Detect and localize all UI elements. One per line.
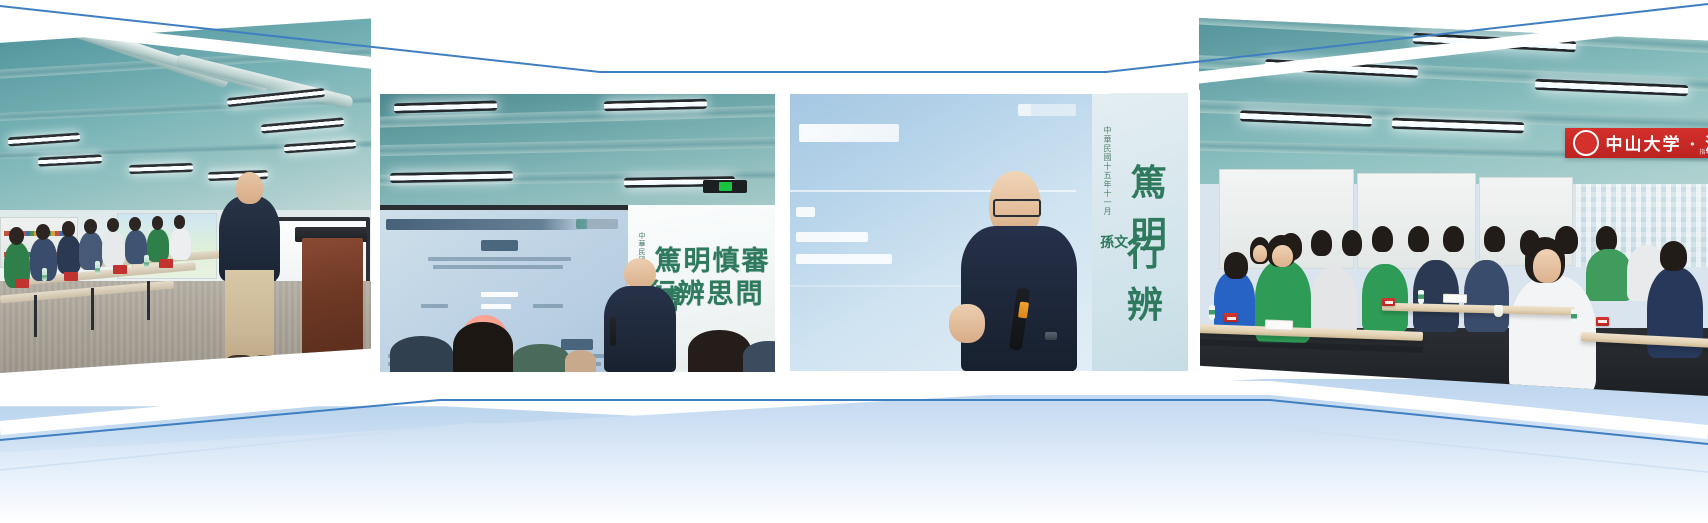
instructor-body [219,196,279,281]
audience-head [390,336,454,372]
attendee-head [1443,226,1463,252]
slide-keyword-right [561,339,594,350]
bottom-plate-right [0,363,1708,523]
banner-main-text: 中山大学 · 深圳 [1605,130,1708,155]
name-placard [1224,313,1238,322]
person-head [84,219,97,234]
university-seal-icon [1573,130,1599,156]
photo-2-presenter-at-projector-screen[interactable]: 中華民國 篤明慎審博 行辨思問學 孫文 [378,94,775,372]
slide-center-label [481,304,511,309]
photo-2-content: 中華民國 篤明慎審博 行辨思問學 孫文 [378,94,775,372]
eyeglasses [993,199,1041,217]
water-bottle [1571,309,1577,324]
slide-title [799,124,898,142]
photo-3-content: 中華民國十五年十一月 篤明 行辨 孫文 [790,93,1188,371]
speaker-hand [949,304,985,343]
water-bottle [144,255,149,268]
seated-person [57,235,82,274]
seated-person [147,229,168,262]
person-head [174,215,185,228]
attendee-head [1484,226,1505,252]
attendee-head [1342,230,1362,256]
slide-center-label [481,292,519,297]
name-placard [1382,298,1395,306]
ceiling-lamp [390,171,513,183]
desk-leg [147,281,150,320]
water-bottle [1209,305,1215,320]
slide-left-label [421,304,449,308]
slide-logo [1018,104,1076,116]
attendee-head [1372,226,1393,252]
person-head [36,224,50,240]
name-placard [64,272,78,281]
attendee-head [1311,230,1332,256]
attendee-body [1586,249,1632,302]
instructor-legs [225,270,274,362]
name-placard [113,265,127,274]
photo-1-content [0,18,378,373]
banner-bottom-small-text: 指导单位：深圳 [1699,147,1708,156]
photo-1-classroom-wide-shot[interactable] [0,18,378,373]
slide-logo [576,219,618,229]
person-head [152,216,164,230]
attendee-head [1408,226,1429,252]
exit-sign-icon [703,180,747,193]
person-head [107,218,119,233]
attendee-head [1224,252,1247,278]
microphone [610,316,616,346]
window-blind [1357,173,1476,270]
ceiling-lamp [604,98,707,111]
slide-line-2 [796,254,892,264]
attendee-body [1311,267,1357,335]
whiteboard-signature: 孫文 [1100,232,1128,252]
instructor-head [236,172,262,204]
water-bottle [1418,290,1424,304]
name-placard [159,259,173,268]
attendee-head [1660,241,1687,271]
seated-person [102,231,125,267]
name-placard [15,279,29,288]
wooden-podium [302,238,362,362]
bottom-gradient-plate [0,363,1708,523]
slide-bullet [796,207,815,217]
seated-person [170,228,190,260]
panel-seam [1188,90,1200,380]
slide-line-1 [796,232,867,242]
audience-head [513,344,569,372]
attendee-face [1533,249,1562,283]
ceiling-lamp [128,162,193,173]
paper-cup [1494,305,1503,317]
desk-leg [91,288,94,331]
slide-subtext [433,265,563,269]
photo-3-speaker-closeup-with-microphone[interactable]: 中華民國十五年十一月 篤明 行辨 孫文 [790,93,1188,371]
desk-leg [34,295,37,338]
audience-head [688,330,752,372]
whiteboard-line-2: 行辨 [1127,224,1188,328]
photo-4-audience-seated-with-red-banner[interactable]: 中山大学 · 深圳 企业家培训 指导单位：深圳 [1199,18,1708,396]
audience-head [743,341,775,372]
attendee-face [1272,245,1292,268]
person-head [62,221,76,237]
presenter-head [624,258,656,289]
water-bottle [42,268,47,281]
photo-collage-banner: 中華民國 篤明慎審博 行辨思問學 孫文 [0,0,1708,523]
slide-right-label [533,304,563,308]
calligraphy-whiteboard: 中華民國十五年十一月 篤明 行辨 孫文 [1092,93,1188,371]
photo-4-content: 中山大学 · 深圳 企业家培训 指导单位：深圳 [1199,18,1708,396]
wristwatch [1045,332,1057,340]
audience-head [453,322,513,372]
attendee-body [1464,260,1510,332]
slide-headline [386,219,586,230]
attendee-body [1214,271,1255,331]
attendee-face [1253,245,1267,262]
notebook [1443,294,1467,303]
panel-seam [775,90,790,380]
name-placard [1596,317,1609,326]
panel-seam [371,14,380,384]
notebook [1265,320,1293,331]
slide-keyword-top [481,240,519,251]
audience-hand [565,350,597,372]
water-bottle [95,261,100,274]
red-event-banner: 中山大学 · 深圳 企业家培训 指导单位：深圳 [1565,128,1708,158]
whiteboard-side-text: 中華民國十五年十一月 [1102,126,1113,216]
slide-subtext [428,257,571,261]
